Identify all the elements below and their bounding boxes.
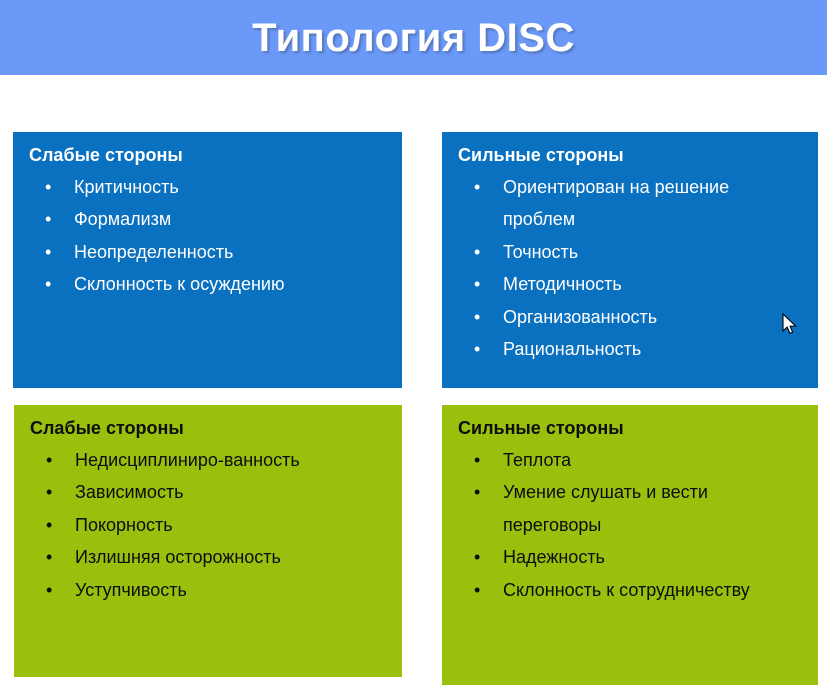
list-item-label: Уступчивость bbox=[75, 580, 187, 600]
list-item: • Методичность bbox=[456, 268, 804, 301]
list-item-label: Надежность bbox=[503, 547, 605, 567]
card-weaknesses-green: Слабые стороны • Недисциплиниро-ванность… bbox=[14, 405, 402, 677]
bullet-icon: • bbox=[474, 301, 480, 334]
bullet-list: • Недисциплиниро-ванность • Зависимость … bbox=[28, 444, 388, 607]
list-item-label: Неопределенность bbox=[74, 242, 233, 262]
list-item-label: Методичность bbox=[503, 274, 622, 294]
bullet-icon: • bbox=[474, 236, 480, 269]
list-item: • Ориентирован на решение проблем bbox=[456, 171, 804, 236]
list-item-label: Формализм bbox=[74, 209, 171, 229]
bullet-icon: • bbox=[46, 541, 52, 574]
list-item: • Покорность bbox=[28, 509, 388, 542]
bullet-icon: • bbox=[46, 574, 52, 607]
bullet-icon: • bbox=[474, 574, 480, 607]
list-item-label: Зависимость bbox=[75, 482, 184, 502]
list-item-label: Склонность к сотрудничеству bbox=[503, 580, 750, 600]
list-item: • Зависимость bbox=[28, 476, 388, 509]
page-title: Типология DISC bbox=[252, 18, 575, 58]
bullet-list: • Теплота • Умение слушать и вести перег… bbox=[456, 444, 804, 607]
list-item-label: Критичность bbox=[74, 177, 179, 197]
bullet-list: • Ориентирован на решение проблем • Точн… bbox=[456, 171, 804, 366]
list-item-label: Теплота bbox=[503, 450, 571, 470]
list-item: • Неопределенность bbox=[27, 236, 388, 269]
list-item: • Склонность к осуждению bbox=[27, 268, 388, 301]
card-title: Слабые стороны bbox=[27, 144, 388, 167]
bullet-icon: • bbox=[45, 268, 51, 301]
list-item: • Надежность bbox=[456, 541, 804, 574]
list-item: • Рациональность bbox=[456, 333, 804, 366]
card-title: Сильные стороны bbox=[456, 417, 804, 440]
list-item-label: Организованность bbox=[503, 307, 657, 327]
list-item-label: Излишняя осторожность bbox=[75, 547, 281, 567]
list-item-label: Точность bbox=[503, 242, 578, 262]
bullet-icon: • bbox=[474, 171, 480, 204]
list-item: • Склонность к сотрудничеству bbox=[456, 574, 804, 607]
list-item: • Организованность bbox=[456, 301, 804, 334]
card-strengths-green: Сильные стороны • Теплота • Умение слуша… bbox=[442, 405, 818, 685]
list-item: • Недисциплиниро-ванность bbox=[28, 444, 388, 477]
list-item-label: Склонность к осуждению bbox=[74, 274, 284, 294]
list-item: • Теплота bbox=[456, 444, 804, 477]
list-item: • Критичность bbox=[27, 171, 388, 204]
bullet-icon: • bbox=[474, 444, 480, 477]
list-item: • Умение слушать и вести переговоры bbox=[456, 476, 804, 541]
bullet-icon: • bbox=[474, 476, 480, 509]
bullet-list: • Критичность • Формализм • Неопределенн… bbox=[27, 171, 388, 301]
list-item: • Формализм bbox=[27, 203, 388, 236]
title-banner: Типология DISC bbox=[0, 0, 827, 75]
list-item-label: Рациональность bbox=[503, 339, 641, 359]
bullet-icon: • bbox=[474, 541, 480, 574]
list-item-label: Недисциплиниро-ванность bbox=[75, 450, 300, 470]
bullet-icon: • bbox=[45, 236, 51, 269]
card-strengths-blue: Сильные стороны • Ориентирован на решени… bbox=[442, 132, 818, 388]
bullet-icon: • bbox=[46, 509, 52, 542]
list-item: • Точность bbox=[456, 236, 804, 269]
bullet-icon: • bbox=[45, 203, 51, 236]
list-item-label: Умение слушать и вести переговоры bbox=[503, 482, 708, 535]
bullet-icon: • bbox=[45, 171, 51, 204]
bullet-icon: • bbox=[474, 268, 480, 301]
list-item: • Уступчивость bbox=[28, 574, 388, 607]
card-title: Слабые стороны bbox=[28, 417, 388, 440]
list-item: • Излишняя осторожность bbox=[28, 541, 388, 574]
bullet-icon: • bbox=[46, 476, 52, 509]
list-item-label: Покорность bbox=[75, 515, 173, 535]
card-weaknesses-blue: Слабые стороны • Критичность • Формализм… bbox=[13, 132, 402, 388]
list-item-label: Ориентирован на решение проблем bbox=[503, 177, 729, 230]
bullet-icon: • bbox=[474, 333, 480, 366]
card-title: Сильные стороны bbox=[456, 144, 804, 167]
bullet-icon: • bbox=[46, 444, 52, 477]
